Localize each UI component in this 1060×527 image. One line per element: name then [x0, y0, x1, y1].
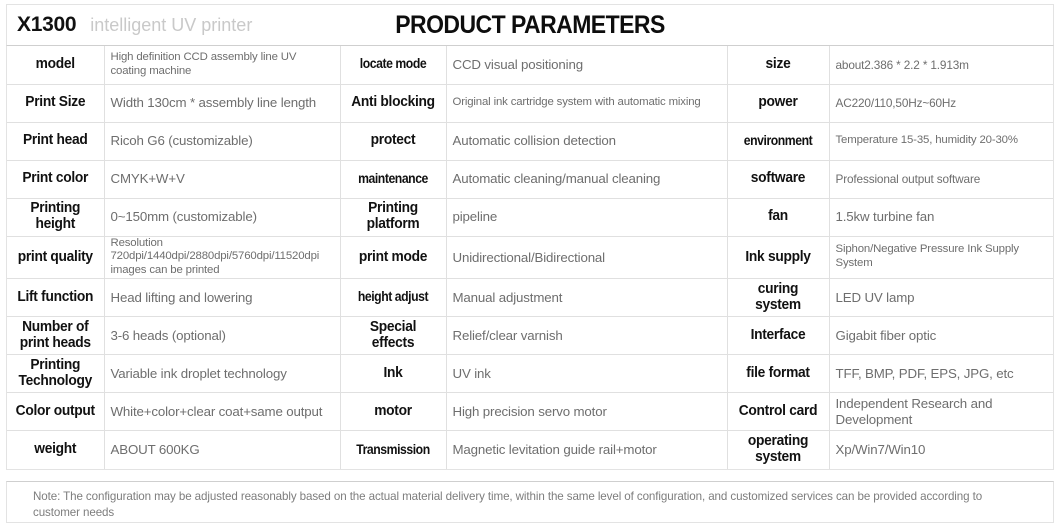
product-parameters-page: X1300 intelligent UV printer PRODUCT PAR…	[0, 0, 1060, 527]
spec-value: Temperature 15-35, humidity 20-30%	[829, 122, 1053, 160]
spec-value: Unidirectional/Bidirectional	[446, 236, 727, 279]
spec-label: Color output	[9, 393, 101, 431]
spec-value: Gigabit fiber optic	[829, 317, 1053, 355]
spec-label: fan	[730, 198, 827, 236]
spec-label: Control card	[730, 393, 827, 431]
spec-label: Print color	[9, 160, 101, 198]
spec-value: White+color+clear coat+same output	[104, 393, 340, 431]
spec-value: Variable ink droplet technology	[104, 355, 340, 393]
table-row: weight ABOUT 600KG Transmission Magnetic…	[7, 431, 1053, 469]
spec-value: Resolution 720dpi/1440dpi/2880dpi/5760dp…	[104, 236, 340, 279]
spec-table-body: model High definition CCD assembly line …	[7, 46, 1053, 469]
spec-value: CMYK+W+V	[104, 160, 340, 198]
spec-label: curing system	[730, 279, 827, 317]
spec-label: environment	[732, 122, 824, 160]
spec-value: ABOUT 600KG	[104, 431, 340, 469]
spec-label: Ink supply	[730, 236, 827, 279]
spec-value: Siphon/Negative Pressure Ink Supply Syst…	[829, 236, 1053, 279]
spec-label: Printing Technology	[9, 355, 101, 393]
spec-table-wrapper: model High definition CCD assembly line …	[6, 45, 1054, 470]
spec-value: AC220/110,50Hz~60Hz	[829, 84, 1053, 122]
spec-value: pipeline	[446, 198, 727, 236]
spec-label: print quality	[9, 236, 101, 279]
table-row: Color output White+color+clear coat+same…	[7, 393, 1053, 431]
spec-label: power	[730, 84, 827, 122]
spec-label: Print Size	[9, 84, 101, 122]
spec-label: Special effects	[343, 317, 444, 355]
table-row: Number of print heads 3-6 heads (optiona…	[7, 317, 1053, 355]
table-row: print quality Resolution 720dpi/1440dpi/…	[7, 236, 1053, 279]
spec-value: 0~150mm (customizable)	[104, 198, 340, 236]
spec-label: maintenance	[345, 160, 440, 198]
spec-label: height adjust	[345, 279, 440, 317]
spec-value: Manual adjustment	[446, 279, 727, 317]
spec-label: Printing height	[9, 198, 101, 236]
table-row: model High definition CCD assembly line …	[7, 46, 1053, 84]
spec-label: Printing platform	[343, 198, 444, 236]
spec-label: motor	[343, 393, 444, 431]
spec-value: Width 130cm * assembly line length	[104, 84, 340, 122]
spec-value: TFF, BMP, PDF, EPS, JPG, etc	[829, 355, 1053, 393]
footnote: Note: The configuration may be adjusted …	[6, 481, 1054, 523]
spec-value: Relief/clear varnish	[446, 317, 727, 355]
spec-value: CCD visual positioning	[446, 46, 727, 84]
spec-label: model	[9, 46, 101, 84]
spec-value: Ricoh G6 (customizable)	[104, 122, 340, 160]
spec-label: Print head	[9, 122, 101, 160]
spec-value: UV ink	[446, 355, 727, 393]
spec-label: Ink	[343, 355, 444, 393]
spec-value: 1.5kw turbine fan	[829, 198, 1053, 236]
spec-label: Transmission	[345, 431, 440, 469]
spec-label: Anti blocking	[343, 84, 444, 122]
page-header: X1300 intelligent UV printer PRODUCT PAR…	[6, 4, 1054, 45]
table-row: Print Size Width 130cm * assembly line l…	[7, 84, 1053, 122]
table-row: Printing height 0~150mm (customizable) P…	[7, 198, 1053, 236]
spec-value: Professional output software	[829, 160, 1053, 198]
spec-table: model High definition CCD assembly line …	[7, 46, 1053, 469]
table-row: Lift function Head lifting and lowering …	[7, 279, 1053, 317]
table-row: Print color CMYK+W+V maintenance Automat…	[7, 160, 1053, 198]
spec-label: Interface	[730, 317, 827, 355]
spec-value: Magnetic levitation guide rail+motor	[446, 431, 727, 469]
spec-label: weight	[9, 431, 101, 469]
spec-value: High definition CCD assembly line UV coa…	[104, 46, 340, 84]
spec-label: file format	[730, 355, 827, 393]
spec-value: Original ink cartridge system with autom…	[446, 84, 727, 122]
spec-value: Automatic collision detection	[446, 122, 727, 160]
table-row: Print head Ricoh G6 (customizable) prote…	[7, 122, 1053, 160]
spec-label: print mode	[343, 236, 444, 279]
spec-value: about2.386 * 2.2 * 1.913m	[829, 46, 1053, 84]
product-subtitle: intelligent UV printer	[90, 15, 252, 36]
spec-label: software	[730, 160, 827, 198]
spec-value: Xp/Win7/Win10	[829, 431, 1053, 469]
spec-label: size	[730, 46, 827, 84]
spec-value: Independent Research and Development	[829, 393, 1053, 431]
spec-value: 3-6 heads (optional)	[104, 317, 340, 355]
spec-label: Number of print heads	[9, 317, 101, 355]
product-model: X1300	[17, 13, 76, 37]
spec-label: locate mode	[345, 46, 440, 84]
spec-label: operating system	[730, 431, 827, 469]
spec-value: Head lifting and lowering	[104, 279, 340, 317]
spec-value: LED UV lamp	[829, 279, 1053, 317]
spec-value: Automatic cleaning/manual cleaning	[446, 160, 727, 198]
spec-value: High precision servo motor	[446, 393, 727, 431]
table-row: Printing Technology Variable ink droplet…	[7, 355, 1053, 393]
spec-label: Lift function	[9, 279, 101, 317]
spec-label: protect	[343, 122, 444, 160]
